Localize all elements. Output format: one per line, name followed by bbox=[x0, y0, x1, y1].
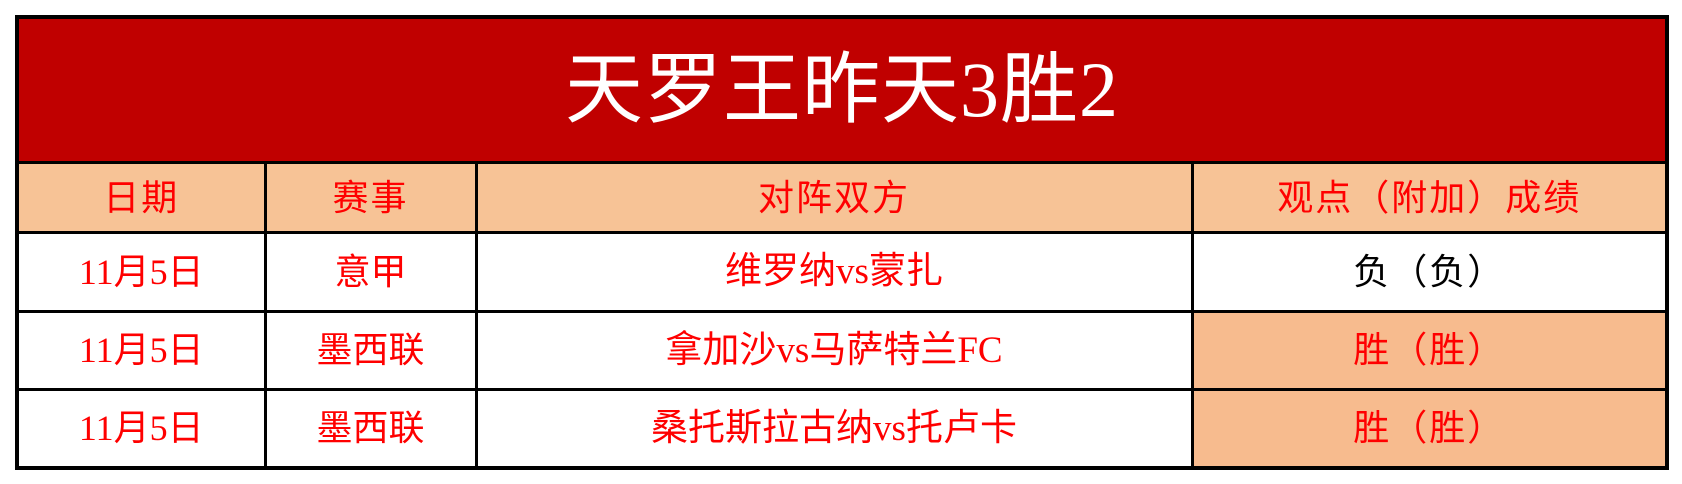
column-header-date: 日期 bbox=[17, 163, 265, 233]
cell-match: 桑托斯拉古纳vs托卢卡 bbox=[476, 389, 1192, 468]
cell-result: 胜（胜） bbox=[1192, 311, 1667, 389]
cell-date: 11月5日 bbox=[17, 389, 265, 468]
cell-league: 墨西联 bbox=[265, 311, 476, 389]
cell-result: 负（负） bbox=[1192, 233, 1667, 311]
table-row: 11月5日 意甲 维罗纳vs蒙扎 负（负） bbox=[17, 233, 1667, 311]
cell-match: 拿加沙vs马萨特兰FC bbox=[476, 311, 1192, 389]
cell-league: 墨西联 bbox=[265, 389, 476, 468]
banner-cell: 天罗王昨天3胜2 bbox=[17, 17, 1667, 163]
table-banner-row: 天罗王昨天3胜2 bbox=[17, 17, 1667, 163]
screenshot-root: 天罗王昨天3胜2 日期 赛事 对阵双方 观点（附加）成绩 11月5日 意甲 维罗… bbox=[0, 0, 1682, 484]
prediction-results-table: 天罗王昨天3胜2 日期 赛事 对阵双方 观点（附加）成绩 11月5日 意甲 维罗… bbox=[15, 15, 1669, 470]
table-row: 11月5日 墨西联 拿加沙vs马萨特兰FC 胜（胜） bbox=[17, 311, 1667, 389]
cell-league: 意甲 bbox=[265, 233, 476, 311]
column-header-league: 赛事 bbox=[265, 163, 476, 233]
cell-result: 胜（胜） bbox=[1192, 389, 1667, 468]
column-header-match: 对阵双方 bbox=[476, 163, 1192, 233]
column-header-result: 观点（附加）成绩 bbox=[1192, 163, 1667, 233]
table-header-row: 日期 赛事 对阵双方 观点（附加）成绩 bbox=[17, 163, 1667, 233]
cell-date: 11月5日 bbox=[17, 233, 265, 311]
cell-date: 11月5日 bbox=[17, 311, 265, 389]
banner-title: 天罗王昨天3胜2 bbox=[565, 46, 1119, 133]
cell-match: 维罗纳vs蒙扎 bbox=[476, 233, 1192, 311]
table-row: 11月5日 墨西联 桑托斯拉古纳vs托卢卡 胜（胜） bbox=[17, 389, 1667, 468]
